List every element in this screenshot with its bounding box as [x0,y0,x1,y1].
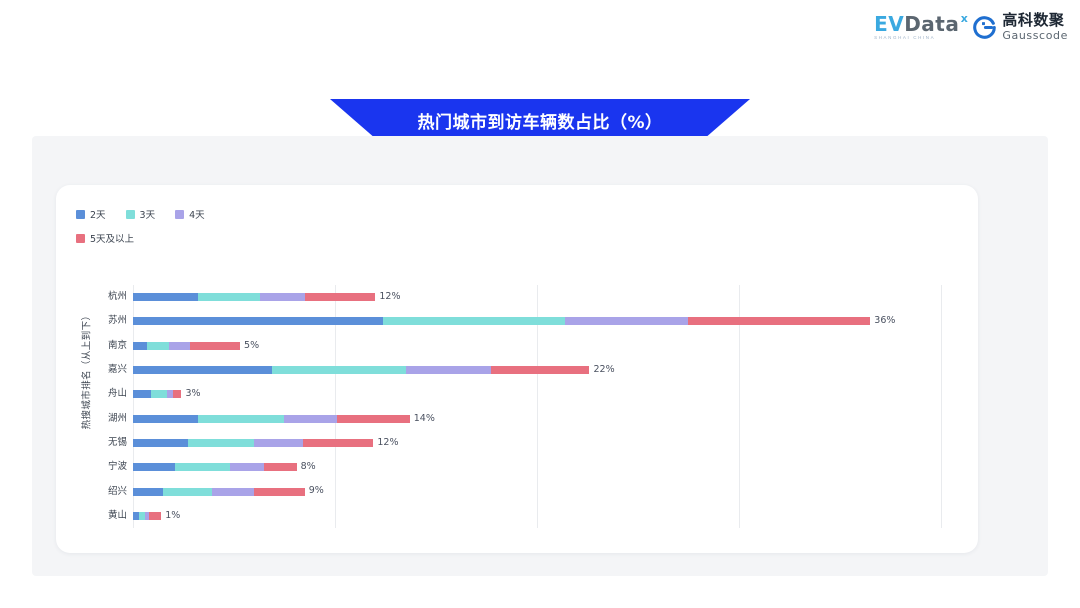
y-axis-tick-label: 宁波 [56,462,127,472]
bar-segment-3天[interactable] [163,488,211,496]
bar-segment-2天[interactable] [133,463,175,471]
chart-row: 绍兴9% [56,479,978,503]
bar-value-label: 22% [594,365,615,375]
bar-segment-3天[interactable] [151,390,167,398]
bar-segment-3天[interactable] [147,342,169,350]
chart-row: 舟山3% [56,382,978,406]
bar-value-label: 9% [309,486,324,496]
bar-segment-5天及以上[interactable] [688,317,870,325]
bar-segment-5天及以上[interactable] [264,463,296,471]
bar-segment-4天[interactable] [230,463,264,471]
bar-segment-3天[interactable] [272,366,405,374]
chart-plot-area: 热搜城市排名（从上到下） 杭州12%苏州36%南京5%嘉兴22%舟山3%湖州14… [56,185,978,553]
bar-segment-4天[interactable] [212,488,254,496]
stacked-bar[interactable] [133,488,305,496]
bar-value-label: 36% [874,316,895,326]
bar-segment-2天[interactable] [133,488,163,496]
chart-card: 2天3天4天5天及以上 热搜城市排名（从上到下） 杭州12%苏州36%南京5%嘉… [56,185,978,553]
stacked-bar[interactable] [133,439,373,447]
bar-value-label: 3% [185,389,200,399]
title-ribbon-container: 热门城市到访车辆数占比（%） [0,99,1080,141]
y-axis-tick-label: 湖州 [56,414,127,424]
chart-row: 无锡12% [56,431,978,455]
bar-segment-5天及以上[interactable] [254,488,305,496]
bar-segment-5天及以上[interactable] [149,512,161,520]
y-axis-tick-label: 绍兴 [56,487,127,497]
bar-segment-3天[interactable] [175,463,230,471]
bar-value-label: 12% [379,292,400,302]
bar-segment-2天[interactable] [133,342,147,350]
bar-segment-4天[interactable] [169,342,189,350]
y-axis-tick-label: 舟山 [56,389,127,399]
logo-group: EVData x SHANGHAI CHINA 高科数聚 Gausscode [874,13,1068,41]
gausscode-cn-text: 高科数聚 [1002,13,1068,28]
bar-segment-5天及以上[interactable] [305,293,376,301]
bar-segment-2天[interactable] [133,415,198,423]
bar-segment-2天[interactable] [133,317,383,325]
bar-segment-4天[interactable] [284,415,337,423]
chart-row: 杭州12% [56,285,978,309]
bar-value-label: 12% [377,438,398,448]
bar-segment-3天[interactable] [198,415,285,423]
bar-segment-3天[interactable] [383,317,565,325]
bar-segment-2天[interactable] [133,439,188,447]
stacked-bar[interactable] [133,366,589,374]
chart-row: 湖州14% [56,407,978,431]
gausscode-en-text: Gausscode [1002,30,1068,41]
bar-value-label: 14% [414,414,435,424]
bar-segment-4天[interactable] [254,439,302,447]
bar-segment-5天及以上[interactable] [303,439,374,447]
title-ribbon: 热门城市到访车辆数占比（%） [330,99,750,141]
bar-segment-2天[interactable] [133,390,151,398]
evdata-ev-text: EV [874,12,904,36]
y-axis-tick-label: 黄山 [56,511,127,521]
bar-segment-4天[interactable] [260,293,304,301]
evdata-data-text: Data [904,12,959,36]
bar-value-label: 8% [301,462,316,472]
bar-segment-5天及以上[interactable] [190,342,241,350]
bar-segment-2天[interactable] [133,366,272,374]
page-title: 热门城市到访车辆数占比（%） [417,108,662,133]
evdata-wordmark: EVData x [874,14,959,34]
page-header: EVData x SHANGHAI CHINA 高科数聚 Gausscode [0,0,1080,58]
bar-value-label: 5% [244,341,259,351]
stacked-bar[interactable] [133,390,181,398]
stacked-bar[interactable] [133,342,240,350]
y-axis-tick-label: 嘉兴 [56,365,127,375]
bar-segment-4天[interactable] [406,366,491,374]
evdata-superscript-x: x [961,9,969,29]
y-axis-tick-label: 南京 [56,341,127,351]
bar-segment-3天[interactable] [198,293,261,301]
bar-segment-3天[interactable] [188,439,255,447]
stacked-bar[interactable] [133,293,375,301]
y-axis-tick-label: 苏州 [56,316,127,326]
chart-row: 苏州36% [56,309,978,333]
gausscode-mark-icon [973,16,996,39]
y-axis-tick-label: 杭州 [56,292,127,302]
gausscode-logo: 高科数聚 Gausscode [973,13,1068,41]
chart-row: 黄山1% [56,504,978,528]
stacked-bar[interactable] [133,463,297,471]
stacked-bar[interactable] [133,317,870,325]
chart-bar-rows: 杭州12%苏州36%南京5%嘉兴22%舟山3%湖州14%无锡12%宁波8%绍兴9… [56,285,978,528]
evdata-logo: EVData x SHANGHAI CHINA [874,14,959,40]
gausscode-wordmark: 高科数聚 Gausscode [1002,13,1068,41]
bar-segment-4天[interactable] [565,317,688,325]
bar-segment-5天及以上[interactable] [491,366,590,374]
bar-segment-5天及以上[interactable] [173,390,181,398]
stacked-bar[interactable] [133,512,161,520]
chart-row: 南京5% [56,334,978,358]
chart-row: 嘉兴22% [56,358,978,382]
bar-value-label: 1% [165,511,180,521]
chart-row: 宁波8% [56,455,978,479]
stacked-bar[interactable] [133,415,410,423]
bar-segment-5天及以上[interactable] [337,415,410,423]
y-axis-tick-label: 无锡 [56,438,127,448]
bar-segment-2天[interactable] [133,293,198,301]
